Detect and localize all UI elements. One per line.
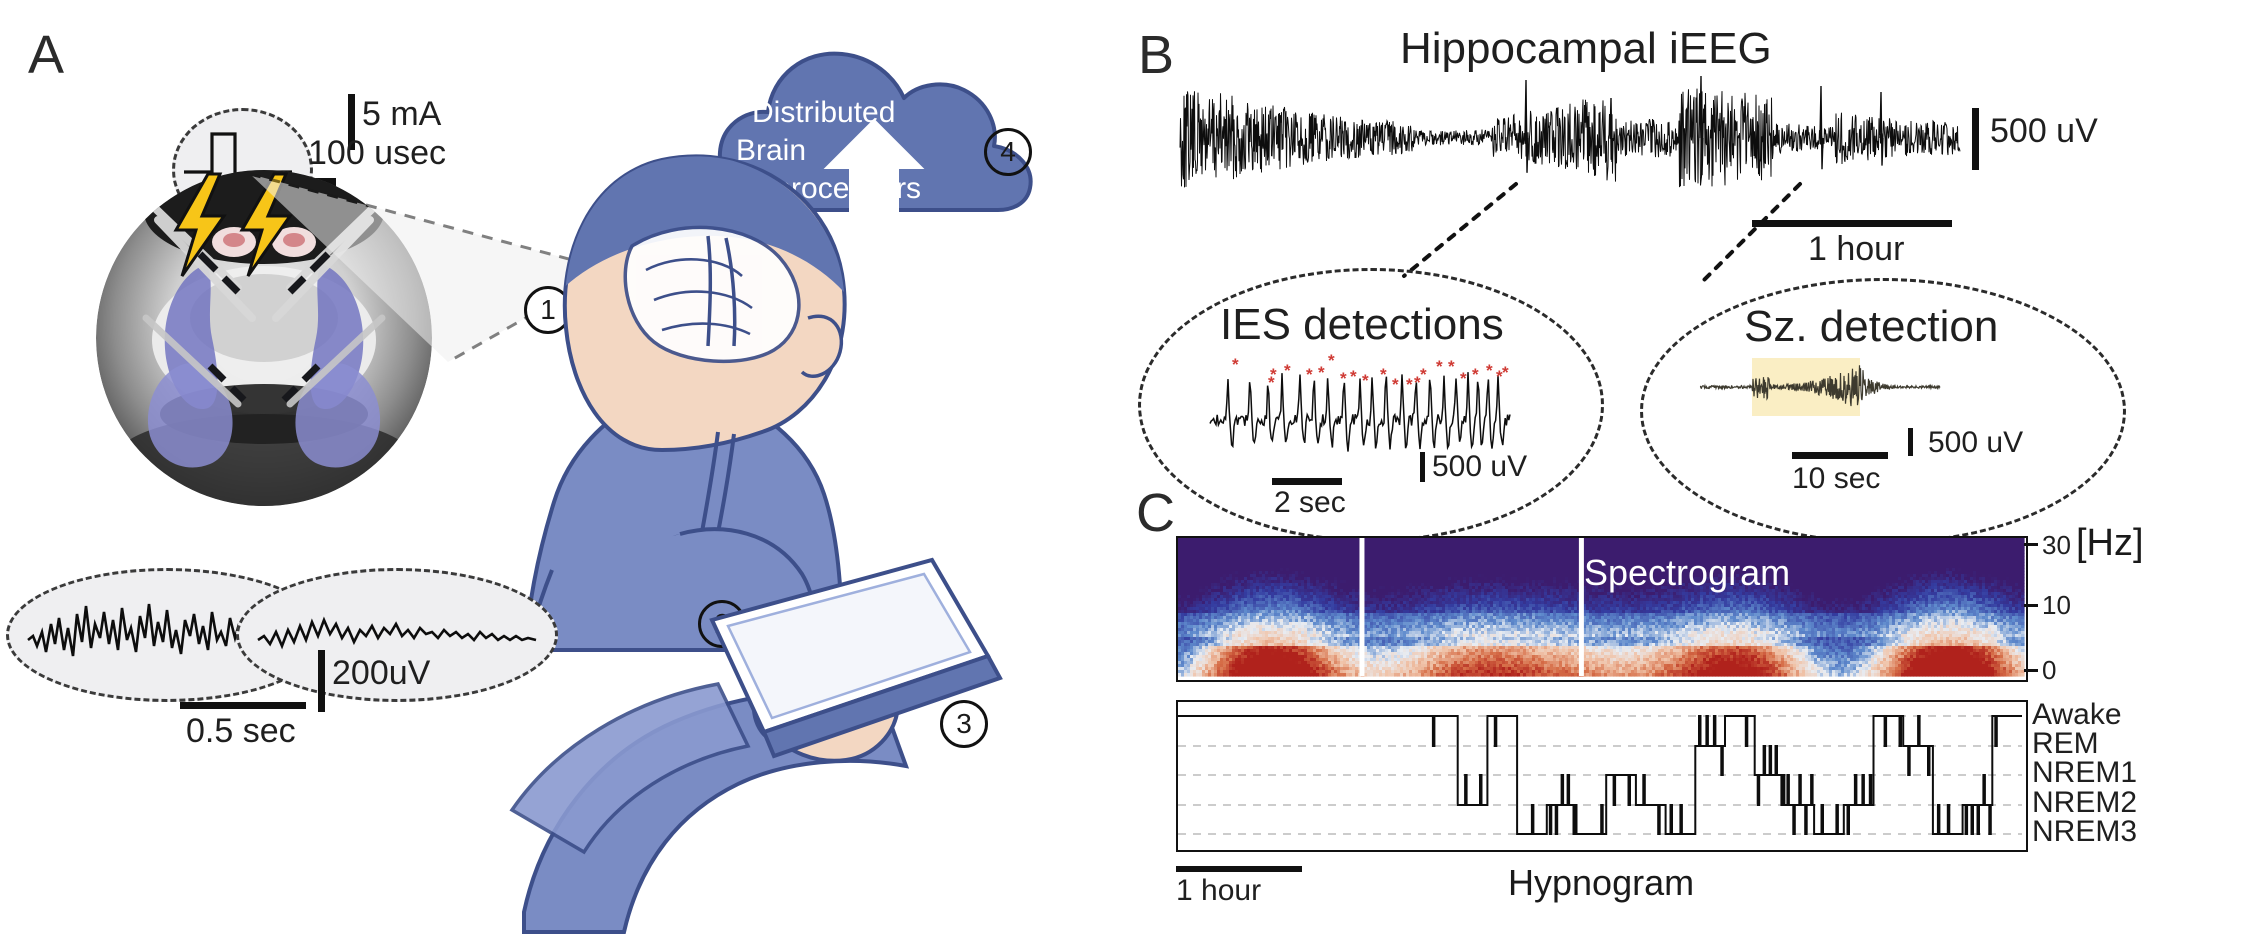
spectrogram-ticklabel-0: 0 bbox=[2042, 655, 2056, 686]
panel-a-letter: A bbox=[28, 24, 64, 86]
ies-marker: * bbox=[1460, 369, 1467, 388]
ies-marker: * bbox=[1502, 363, 1509, 382]
spectrogram-axis-unit: [Hz] bbox=[2076, 522, 2144, 565]
callout-number-3: 3 bbox=[940, 700, 988, 748]
ies-marker: * bbox=[1392, 375, 1399, 394]
ies-marker: * bbox=[1448, 357, 1455, 376]
ies-detections-title: IES detections bbox=[1220, 300, 1504, 350]
ies-leader-line bbox=[1400, 180, 1520, 280]
sz-trace bbox=[1700, 356, 1940, 418]
stim-amplitude-label: 5 mA bbox=[362, 95, 441, 134]
ies-marker: * bbox=[1420, 365, 1427, 384]
ies-marker: * bbox=[1268, 373, 1275, 392]
ies-amplitude-label: 500 uV bbox=[1432, 450, 1527, 484]
ies-marker: * bbox=[1406, 375, 1413, 394]
hypnogram-stage-nrem1: NREM1 bbox=[2032, 756, 2137, 790]
hypnogram-label: Hypnogram bbox=[1508, 862, 1694, 904]
sz-leader-line bbox=[1690, 180, 1810, 290]
ies-marker: * bbox=[1380, 365, 1387, 384]
spectrogram-ticklabel-30: 30 bbox=[2042, 530, 2071, 561]
ies-marker: * bbox=[1486, 361, 1493, 380]
ies-time-label: 2 sec bbox=[1274, 486, 1346, 520]
spectrogram-label: Spectrogram bbox=[1584, 552, 1790, 594]
panel-c-letter: C bbox=[1136, 482, 1175, 544]
sz-time-label: 10 sec bbox=[1792, 462, 1880, 496]
hippocampal-ieeg-trace bbox=[1180, 72, 1960, 204]
ies-marker: * bbox=[1362, 371, 1369, 390]
hypnogram-time-label: 1 hour bbox=[1176, 874, 1261, 908]
eeg-amplitude-scalebar bbox=[318, 650, 325, 712]
sz-detection-title: Sz. detection bbox=[1744, 302, 1998, 352]
sz-amplitude-scalebar bbox=[1908, 428, 1913, 456]
ies-marker: * bbox=[1350, 367, 1357, 386]
ies-marker: * bbox=[1306, 365, 1313, 384]
hypnogram-frame bbox=[1176, 700, 2028, 852]
cloud-line-1: Distributed bbox=[752, 96, 895, 129]
ies-marker: * bbox=[1340, 369, 1347, 388]
eeg-time-scalebar bbox=[180, 702, 306, 709]
hypnogram-time-scalebar bbox=[1176, 866, 1302, 872]
eeg-time-label: 0.5 sec bbox=[186, 712, 296, 751]
sz-time-scalebar bbox=[1792, 452, 1888, 459]
ies-marker: * bbox=[1414, 373, 1421, 392]
hypnogram-plot bbox=[1178, 702, 2022, 846]
spectrogram-tick-30 bbox=[2024, 543, 2038, 546]
ies-time-scalebar bbox=[1272, 478, 1342, 485]
spectrogram-tick-0 bbox=[2024, 669, 2038, 672]
ies-marker: * bbox=[1232, 355, 1239, 374]
ies-amplitude-scalebar bbox=[1420, 452, 1425, 482]
panel-b-letter: B bbox=[1138, 24, 1174, 86]
panel-b-title: Hippocampal iEEG bbox=[1400, 24, 1772, 74]
ies-marker: * bbox=[1328, 351, 1335, 370]
spectrogram-ticklabel-10: 10 bbox=[2042, 590, 2071, 621]
eeg-amplitude-label: 200uV bbox=[332, 654, 430, 693]
patient-hand-and-tablet bbox=[512, 560, 1132, 940]
ieeg-amplitude-label: 500 uV bbox=[1990, 112, 2098, 151]
spectrogram-tick-10 bbox=[2024, 604, 2038, 607]
ies-marker: * bbox=[1436, 357, 1443, 376]
sz-amplitude-label: 500 uV bbox=[1928, 426, 2023, 460]
ies-marker: * bbox=[1284, 361, 1291, 380]
ieeg-time-label: 1 hour bbox=[1808, 230, 1904, 269]
ies-marker: * bbox=[1318, 363, 1325, 382]
ies-marker: * bbox=[1472, 365, 1479, 384]
hypnogram-stage-nrem3: NREM3 bbox=[2032, 815, 2137, 849]
callout-number-3-text: 3 bbox=[956, 708, 972, 740]
ieeg-amplitude-scalebar bbox=[1972, 108, 1979, 170]
